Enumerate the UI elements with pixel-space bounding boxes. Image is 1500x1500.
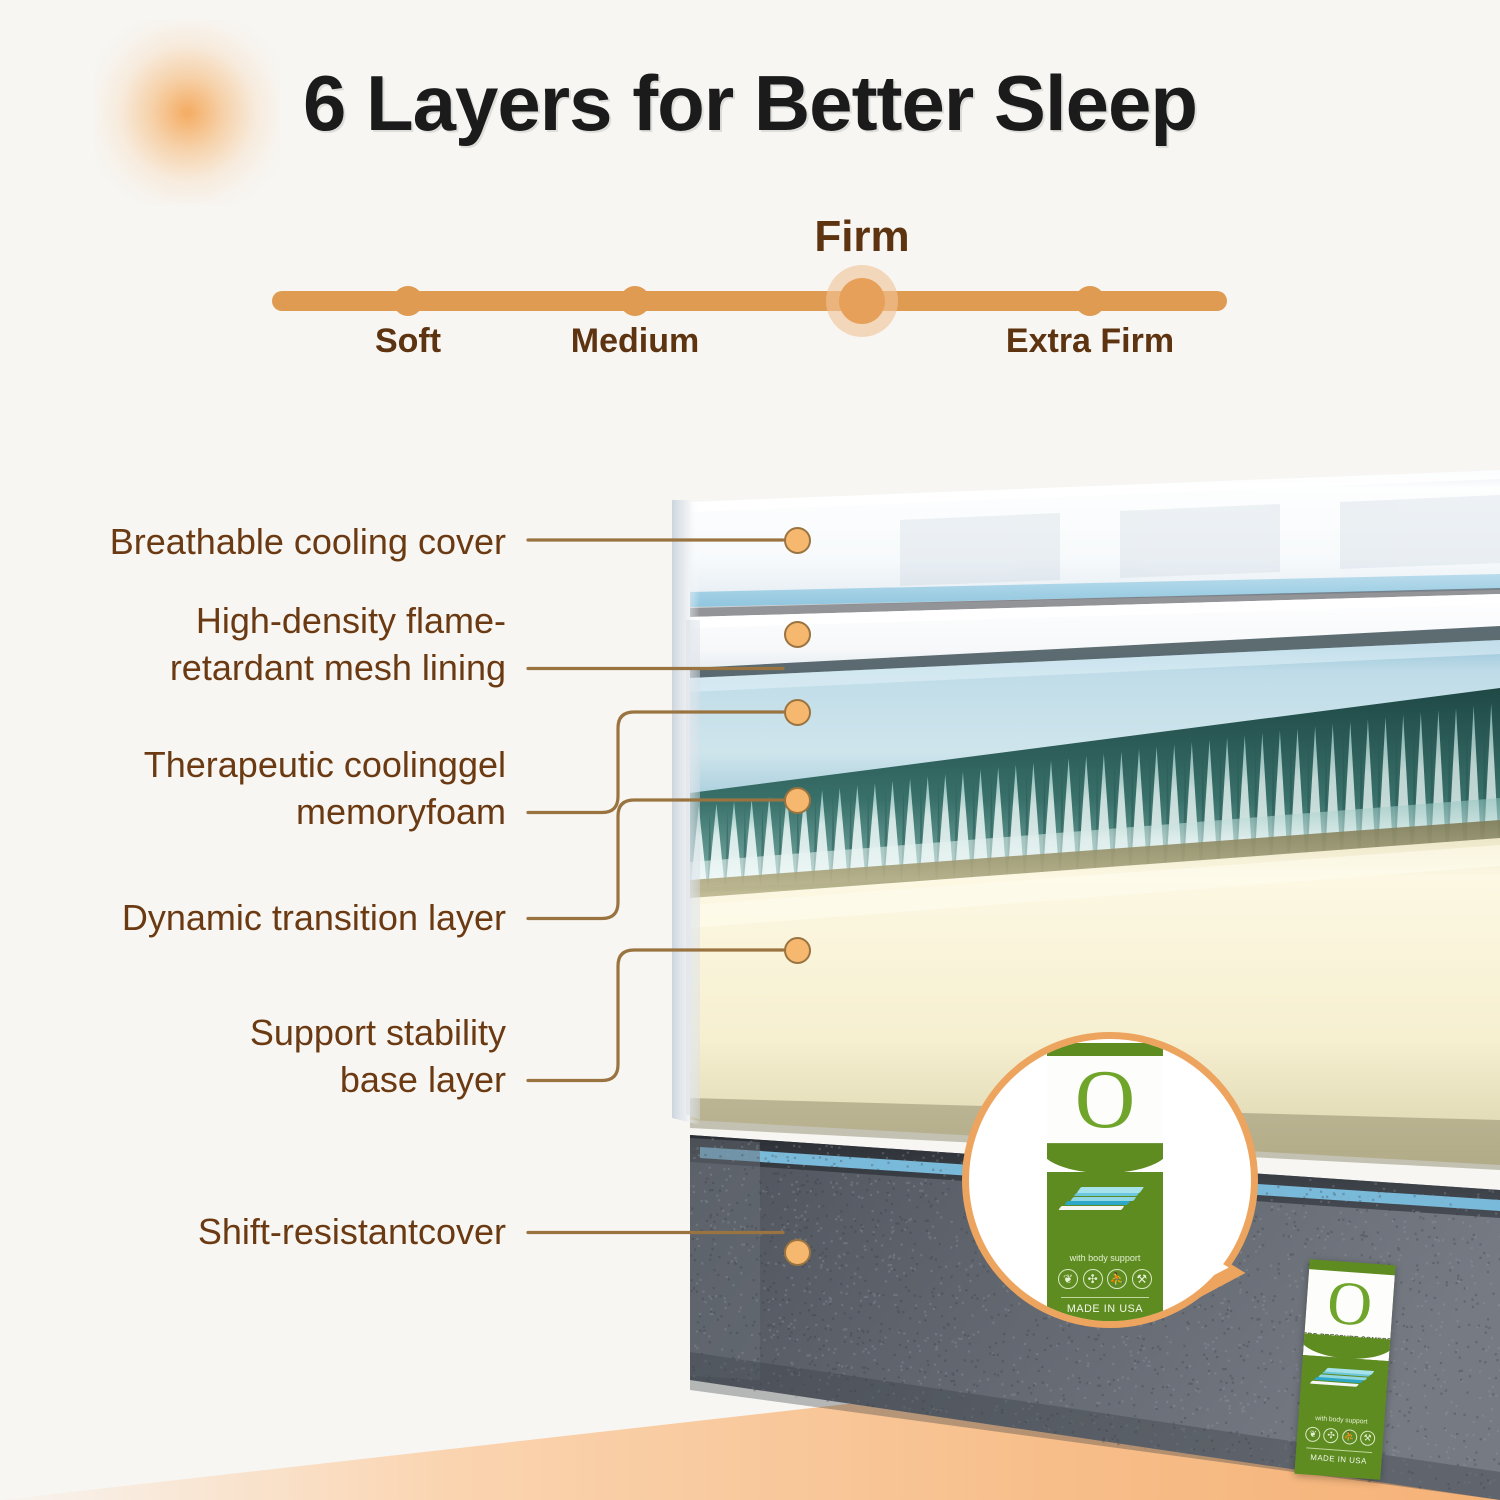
label-mattress-slab bbox=[1074, 1193, 1139, 1196]
plant-leaf-icon: ❦ bbox=[1058, 1269, 1078, 1289]
layer-dot-shift-resistant-cover[interactable] bbox=[784, 1239, 811, 1266]
label-mattress-slab bbox=[1077, 1187, 1144, 1193]
layer-dot-support-stability-base-layer[interactable] bbox=[784, 937, 811, 964]
brand-o-logo: O bbox=[1075, 1062, 1135, 1139]
label-mattress-slab bbox=[1070, 1197, 1136, 1201]
label-mattress-slab bbox=[1065, 1201, 1131, 1205]
two-people-support-icon: ⛹ bbox=[1107, 1269, 1127, 1289]
label-mattress-illustration bbox=[1059, 1184, 1152, 1249]
label-green-panel: with body support❦✣⛹⚒MADE IN USA bbox=[1047, 1172, 1163, 1328]
infographic-root: 6 Layers for Better Sleep Firm SoftMediu… bbox=[0, 0, 1500, 1500]
layer-dot-cooling-gel-memory-foam[interactable] bbox=[784, 699, 811, 726]
leader-lines bbox=[0, 0, 1500, 1500]
product-label-zoomed: OZERO PRESSURE COMFORTwith body support❦… bbox=[1047, 1043, 1163, 1328]
label-mattress-slab bbox=[1059, 1206, 1125, 1210]
label-brand-panel: OZERO PRESSURE COMFORT bbox=[1047, 1056, 1163, 1172]
layer-dot-breathable-cooling-cover[interactable] bbox=[784, 527, 811, 554]
label-subtitle: with body support bbox=[1070, 1253, 1141, 1263]
label-divider-rule bbox=[1061, 1297, 1149, 1298]
bed-support-icon: ⚒ bbox=[1132, 1269, 1152, 1289]
label-origin: MADE IN USA bbox=[1067, 1303, 1143, 1315]
label-curve-divider bbox=[1047, 1143, 1163, 1173]
layer-dot-flame-retardant-mesh-lining[interactable] bbox=[784, 621, 811, 648]
leader-line-support-stability-base-layer bbox=[528, 950, 783, 1081]
leader-line-dynamic-transition-layer bbox=[528, 800, 783, 919]
breathable-mesh-icon: ✣ bbox=[1083, 1269, 1103, 1289]
layer-dot-dynamic-transition-layer[interactable] bbox=[784, 787, 811, 814]
label-icon-row: ❦✣⛹⚒ bbox=[1052, 1269, 1159, 1289]
leader-line-cooling-gel-memory-foam bbox=[528, 712, 783, 813]
